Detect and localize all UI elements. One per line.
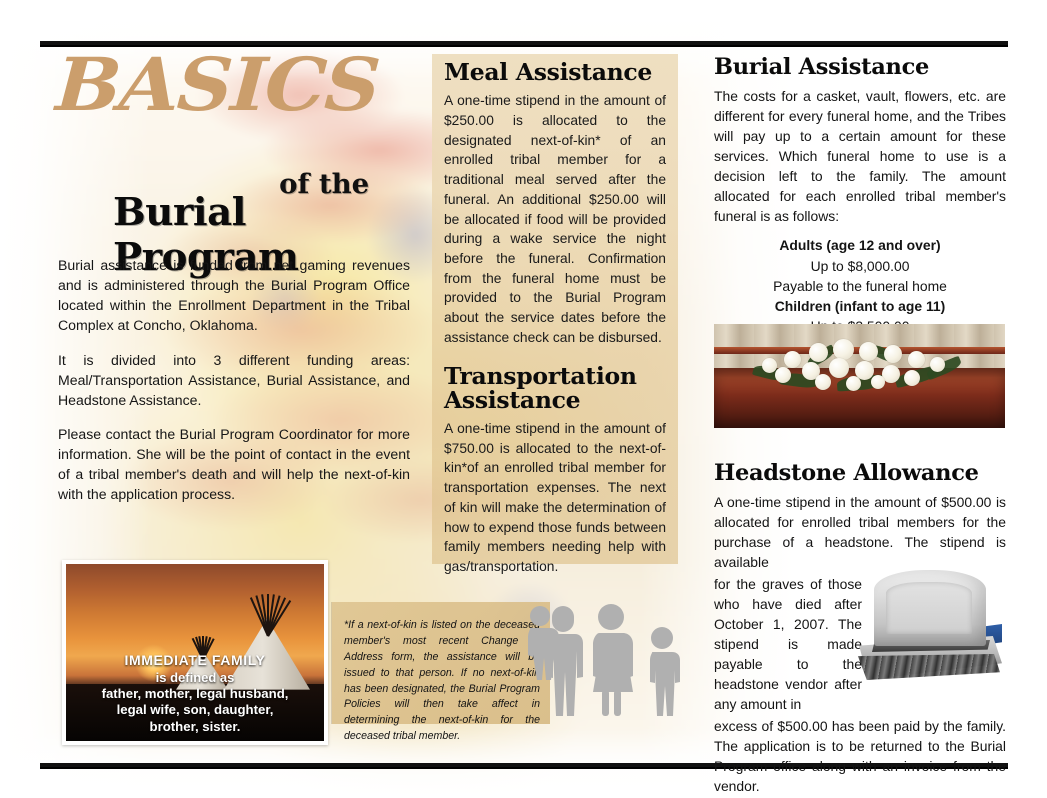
title-basics: BASICS: [54, 51, 380, 120]
next-of-kin-footnote: *If a next-of-kin is listed on the decea…: [344, 618, 540, 745]
caption-subheading: is defined as: [66, 670, 324, 686]
flower-spray: [749, 336, 970, 400]
headstone-engraving-panel: [886, 582, 972, 634]
meal-assistance-heading: Meal Assistance: [444, 60, 666, 84]
intro-paragraph-2: It is divided into 3 different funding a…: [58, 350, 410, 410]
caption-heading: IMMEDIATE FAMILY: [66, 652, 324, 669]
adults-label: Adults (age 12 and over): [714, 235, 1006, 255]
caption-line-2: legal wife, son, daughter,: [66, 702, 324, 718]
caption-line-3: brother, sister.: [66, 719, 324, 735]
adults-amount: Up to $8,000.00: [714, 256, 1006, 276]
immediate-family-caption: IMMEDIATE FAMILY is defined as father, m…: [66, 652, 324, 735]
brochure-page: BASICS of the Burial Program Burial assi…: [0, 0, 1047, 798]
middle-column: Meal Assistance A one-time stipend in th…: [444, 60, 666, 577]
intro-text-block: Burial assistance is funded from net gam…: [58, 255, 410, 519]
headstone-body-tail: excess of $500.00 has been paid by the f…: [714, 716, 1006, 796]
right-column: Burial Assistance The costs for a casket…: [714, 56, 1006, 351]
intro-paragraph-3: Please contact the Burial Program Coordi…: [58, 424, 410, 505]
burial-assistance-heading: Burial Assistance: [714, 56, 1006, 79]
transportation-assistance-heading: Transportation Assistance: [444, 364, 666, 412]
headstone-allowance-heading: Headstone Allowance: [714, 462, 1006, 485]
page-title: BASICS of the Burial Program: [58, 55, 410, 215]
sunset-teepee-image: IMMEDIATE FAMILY is defined as father, m…: [66, 564, 324, 741]
headstone-body-wrap: for the graves of those who have died af…: [714, 574, 862, 714]
burial-assistance-body: The costs for a casket, vault, flowers, …: [714, 86, 1006, 226]
meal-assistance-body: A one-time stipend in the amount of $250…: [444, 91, 666, 347]
adults-payable-note: Payable to the funeral home: [714, 276, 1006, 296]
family-silhouettes-graphic: [524, 598, 700, 720]
intro-paragraph-1: Burial assistance is funded from net gam…: [58, 255, 410, 336]
children-label: Children (infant to age 11): [714, 296, 1006, 316]
left-column: BASICS of the Burial Program: [58, 55, 410, 215]
immediate-family-photo: IMMEDIATE FAMILY is defined as father, m…: [62, 560, 328, 745]
headstone-marker: [874, 570, 986, 646]
headstone-rough-edge: [852, 654, 1000, 680]
headstone-photo: [848, 556, 1006, 680]
caption-line-1: father, mother, legal husband,: [66, 686, 324, 702]
casket-with-flowers-photo: [714, 324, 1005, 428]
family-group-icon: [524, 598, 700, 720]
transportation-assistance-body: A one-time stipend in the amount of $750…: [444, 419, 666, 577]
